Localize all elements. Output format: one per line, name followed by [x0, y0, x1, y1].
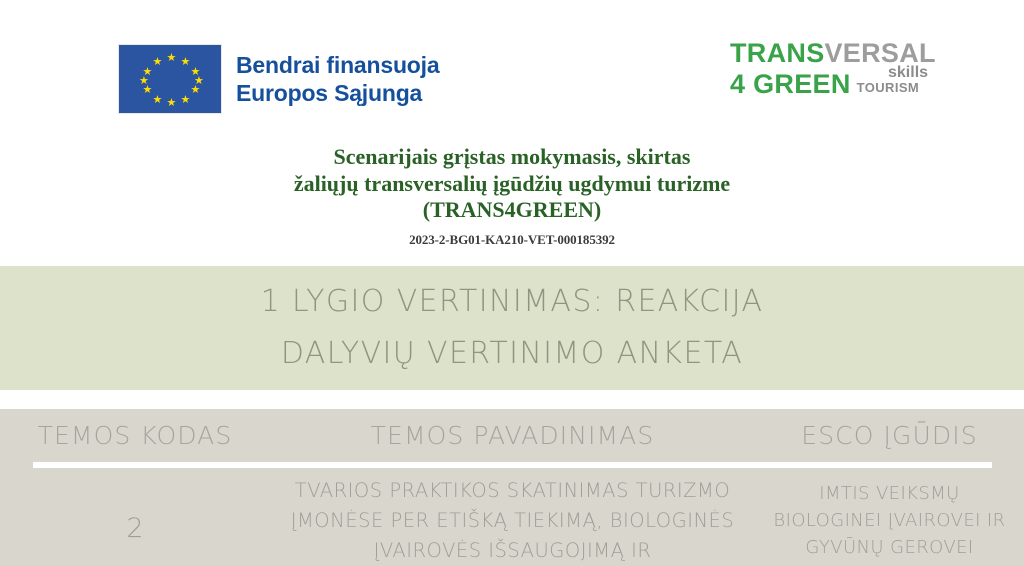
t4g-trans-text: TRANS	[730, 38, 825, 68]
project-code: 2023-2-BG01-KA210-VET-000185392	[0, 232, 1024, 248]
banner-heading-line1: 1 LYGIO VERTINIMAS: REAKCIJA	[261, 276, 764, 328]
table-header-row: TEMOS KODAS TEMOS PAVADINIMAS ESCO ĮGŪDI…	[0, 409, 1024, 462]
logo-band: ★ ★ ★ ★ ★ ★ ★ ★ ★ ★ ★ ★ Bendrai finansuo…	[0, 0, 1024, 140]
eu-star-icon: ★	[143, 67, 152, 76]
topics-table: TEMOS KODAS TEMOS PAVADINIMAS ESCO ĮGŪDI…	[0, 409, 1024, 566]
t4g-fourgreen-text: 4 GREEN	[730, 69, 851, 99]
table-header-divider	[33, 462, 992, 468]
eu-flag-icon: ★ ★ ★ ★ ★ ★ ★ ★ ★ ★ ★ ★	[118, 44, 222, 114]
eu-logo-line2: Europos Sąjunga	[236, 79, 439, 107]
project-title-line1: Scenarijais grįstas mokymasis, skirtas	[0, 144, 1024, 171]
project-title-line3: (TRANS4GREEN)	[0, 197, 1024, 224]
eu-star-icon: ★	[153, 57, 162, 66]
t4g-skills-text: skills	[888, 64, 928, 81]
eu-star-icon: ★	[167, 53, 176, 62]
column-header-topic-name: TEMOS PAVADINIMAS	[270, 421, 755, 450]
evaluation-banner: 1 LYGIO VERTINIMAS: REAKCIJA DALYVIŲ VER…	[0, 266, 1024, 390]
cell-topic-name: TVARIOS PRAKTIKOS SKATINIMAS TURIZMO ĮMO…	[270, 476, 755, 566]
transversal4green-logo: TRANSVERSAL 4 GREENTOURISM skills	[730, 38, 960, 110]
eu-star-icon: ★	[167, 98, 176, 107]
table-row: 2 TVARIOS PRAKTIKOS SKATINIMAS TURIZMO Į…	[0, 476, 1024, 566]
project-title-line2: žaliųjų transversalių įgūdžių ugdymui tu…	[0, 171, 1024, 198]
eu-logo-line1: Bendrai finansuoja	[236, 51, 439, 79]
banner-heading-line2: DALYVIŲ VERTINIMO ANKETA	[281, 328, 743, 380]
eu-star-icon: ★	[191, 85, 200, 94]
eu-star-icon: ★	[153, 95, 162, 104]
eu-star-icon: ★	[181, 57, 190, 66]
column-header-topic-code: TEMOS KODAS	[0, 421, 270, 450]
eu-logo-text: Bendrai finansuoja Europos Sąjunga	[236, 51, 439, 107]
eu-cofunded-logo: ★ ★ ★ ★ ★ ★ ★ ★ ★ ★ ★ ★ Bendrai finansuo…	[118, 44, 439, 114]
cell-esco-skill: IMTIS VEIKSMŲ BIOLOGINEI ĮVAIROVEI IR GY…	[755, 476, 1024, 561]
slide: ★ ★ ★ ★ ★ ★ ★ ★ ★ ★ ★ ★ Bendrai finansuo…	[0, 0, 1024, 566]
column-header-esco-skill: ESCO ĮGŪDIS	[755, 421, 1024, 450]
project-title: Scenarijais grįstas mokymasis, skirtas ž…	[0, 144, 1024, 224]
cell-topic-code: 2	[0, 476, 270, 544]
eu-star-icon: ★	[181, 95, 190, 104]
